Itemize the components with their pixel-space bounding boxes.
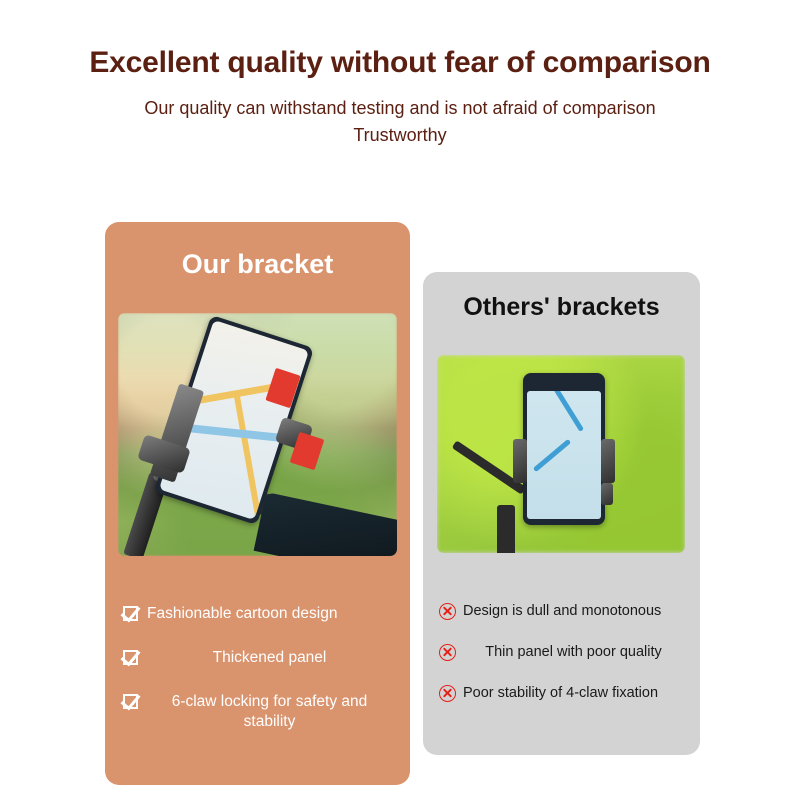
smartphone-screen	[527, 391, 601, 519]
list-item-label: Thin panel with poor quality	[463, 643, 684, 662]
checkbox-checked-icon	[123, 606, 140, 623]
list-item: Fashionable cartoon design	[123, 604, 392, 624]
list-item: 6-claw locking for safety and stability	[123, 692, 392, 732]
list-item-label: Thickened panel	[147, 648, 392, 668]
circle-x-icon	[439, 603, 456, 620]
map-road-icon	[234, 394, 262, 520]
our-bracket-feature-list: Fashionable cartoon design Thickened pan…	[105, 604, 410, 757]
others-bracket-photo	[437, 355, 685, 553]
list-item-label: Fashionable cartoon design	[147, 604, 392, 624]
blurry-phone-mount-illustration	[437, 355, 685, 553]
list-item: Thickened panel	[123, 648, 392, 668]
circle-x-icon	[439, 644, 456, 661]
list-item-label: 6-claw locking for safety and stability	[147, 692, 392, 732]
others-bracket-feature-list: Design is dull and monotonous Thin panel…	[423, 602, 700, 725]
our-bracket-photo	[118, 313, 397, 556]
circle-x-icon	[439, 685, 456, 702]
others-bracket-title: Others' brackets	[423, 272, 700, 322]
mount-post	[497, 505, 515, 553]
phone-mount-illustration	[118, 313, 397, 556]
checkbox-checked-icon	[123, 650, 140, 667]
map-route-icon	[546, 391, 584, 432]
checkbox-checked-icon	[123, 694, 140, 711]
vehicle-dashboard	[254, 492, 397, 556]
mount-clamp-arm	[601, 483, 613, 505]
mount-clamp-arm	[601, 439, 615, 483]
our-bracket-card: Our bracket	[105, 222, 410, 785]
list-item: Design is dull and monotonous	[439, 602, 684, 621]
list-item: Poor stability of 4-claw fixation	[439, 684, 684, 703]
our-bracket-title: Our bracket	[105, 222, 410, 280]
list-item: Thin panel with poor quality	[439, 643, 684, 662]
mount-clamp-arm	[513, 439, 527, 483]
list-item-label: Poor stability of 4-claw fixation	[463, 684, 684, 703]
list-item-label: Design is dull and monotonous	[463, 602, 684, 621]
comparison-cards: Our bracket	[0, 0, 800, 800]
map-route-icon	[533, 439, 571, 472]
others-bracket-card: Others' brackets Design	[423, 272, 700, 755]
